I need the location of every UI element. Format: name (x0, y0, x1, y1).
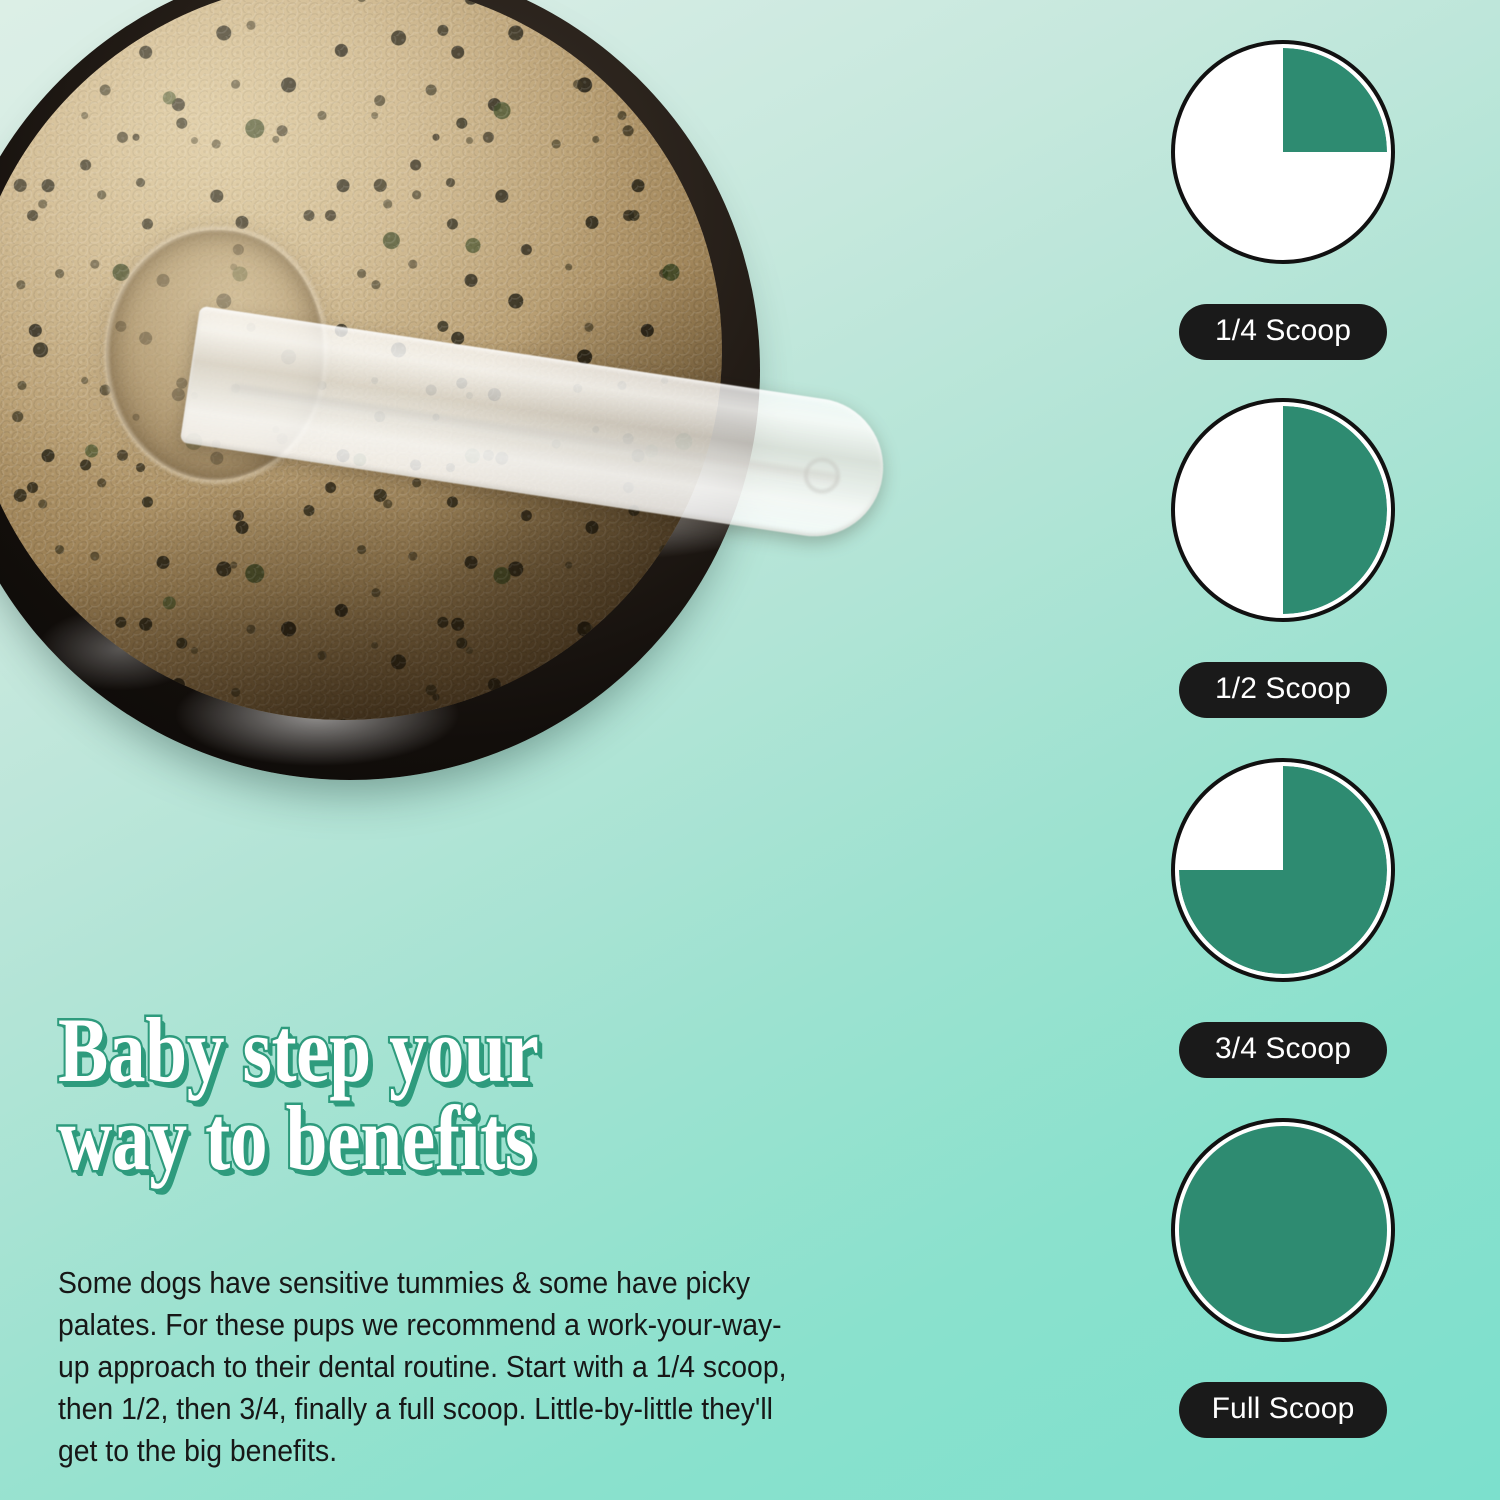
three-quarter-pie-icon (1171, 758, 1395, 982)
half-pie-icon (1171, 398, 1395, 622)
scoop-step-three-quarter: 3/4 Scoop (1118, 758, 1448, 1078)
scoop-scale-legend: 1/4 Scoop 1/2 Scoop (1118, 40, 1448, 1470)
quarter-pie-icon (1171, 40, 1395, 264)
scoop-step-label-half: 1/2 Scoop (1179, 662, 1387, 718)
half-pie-wedge (1179, 406, 1387, 614)
page-title: Baby step your way to benefits (58, 1006, 730, 1183)
scoop-handle-hang-hole (801, 455, 842, 496)
scoop-step-label-three-quarter: 3/4 Scoop (1179, 1022, 1387, 1078)
body-paragraph: Some dogs have sensitive tummies & some … (58, 1262, 793, 1472)
promo-graphic: Baby step your way to benefits Some dogs… (0, 0, 1500, 1500)
scoop-step-full: Full Scoop (1118, 1118, 1448, 1438)
scoop-step-quarter: 1/4 Scoop (1118, 40, 1448, 360)
scoop-step-label-full: Full Scoop (1179, 1382, 1387, 1438)
three-quarter-pie-wedge (1179, 766, 1387, 974)
scoop-step-label-quarter: 1/4 Scoop (1179, 304, 1387, 360)
product-photo (0, 0, 840, 800)
full-pie-icon (1171, 1118, 1395, 1342)
quarter-pie-wedge (1179, 48, 1387, 256)
scoop-step-half: 1/2 Scoop (1118, 398, 1448, 718)
